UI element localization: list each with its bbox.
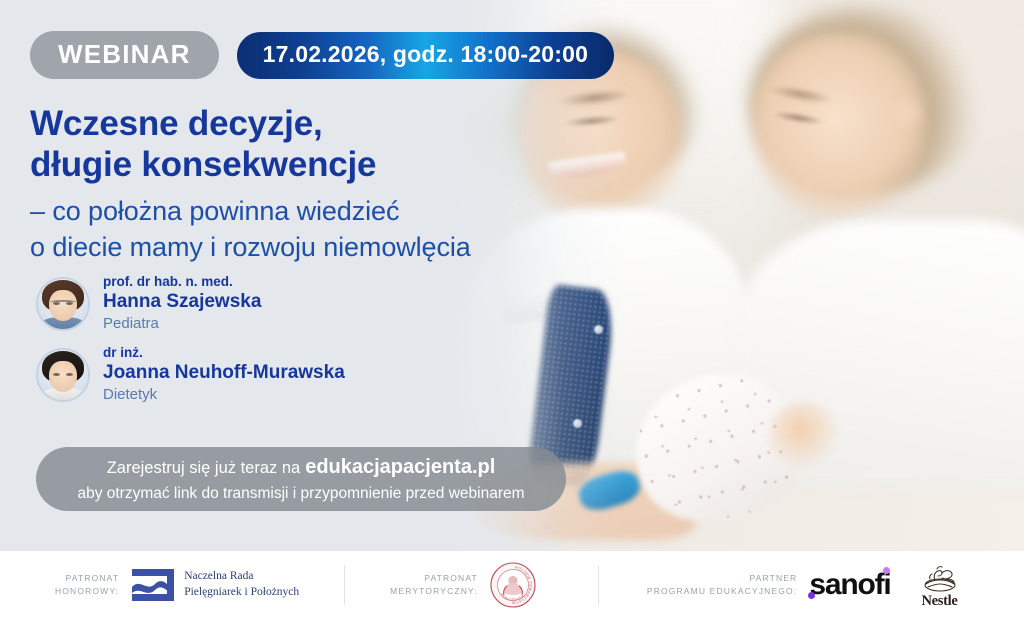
speaker-role: Pediatra — [103, 315, 261, 333]
avatar-hanna-szajewska — [36, 277, 90, 331]
footer-label-patronat-honorowy: PATRONAT HONOROWY: — [55, 572, 119, 598]
nrpip-mark-icon — [131, 568, 175, 602]
nestle-nest-icon — [917, 562, 963, 592]
speakers-list: prof. dr hab. n. med. Hanna Szajewska Pe… — [36, 274, 345, 416]
speaker-name: Joanna Neuhoff-Murawska — [103, 362, 345, 384]
footer-divider-1 — [344, 565, 345, 605]
nestle-logo: Nestle — [917, 562, 963, 609]
cta-line-2: aby otrzymać link do transmisji i przypo… — [77, 484, 524, 505]
polskie-towarzystwo-poloznych-seal: POLSKIE TOWARZYSTWO POŁOŻNYCH — [490, 562, 536, 608]
footer-divider-2 — [598, 565, 599, 605]
partner-footer: PATRONAT HONOROWY: Naczelna Rada Pielęgn… — [0, 551, 1024, 619]
nrpip-logo-text: Naczelna Rada Pielęgniarek i Położnych — [184, 569, 299, 601]
nrpip-logo: Naczelna Rada Pielęgniarek i Położnych — [131, 568, 299, 602]
cta-domain[interactable]: edukacjapacjenta.pl — [305, 456, 495, 478]
avatar-eye-left — [53, 373, 60, 376]
sanofi-text: sanofi — [809, 568, 890, 601]
sanofi-wordmark: sanofi — [809, 570, 890, 600]
sanofi-dot-upper-icon — [883, 567, 890, 574]
nestle-wordmark: Nestle — [921, 594, 957, 609]
sanofi-logo: sanofi — [809, 570, 890, 600]
footer-block-patronat-honorowy: PATRONAT HONOROWY: Naczelna Rada Pielęgn… — [0, 551, 299, 619]
footer-block-partner: PARTNER PROGRAMU EDUKACYJNEGO: sanofi — [647, 551, 963, 619]
title-line-2: długie konsekwencje — [30, 144, 471, 185]
avatar-joanna-neuhoff-murawska — [36, 348, 90, 402]
speaker-name: Hanna Szajewska — [103, 291, 261, 313]
glasses-icon — [50, 300, 76, 306]
footer-label-patronat-merytoryczny: PATRONAT MERYTORYCZNY: — [390, 572, 478, 598]
cta-prefix: Zarejestruj się już teraz na — [107, 459, 301, 477]
page-title: Wczesne decyzje, długie konsekwencje – c… — [30, 103, 471, 265]
subtitle-line-1: – co położna powinna wiedzieć — [30, 194, 471, 230]
webinar-badge: WEBINAR — [30, 31, 219, 79]
date-time-badge: 17.02.2026, godz. 18:00-20:00 — [237, 32, 614, 79]
footer-block-patronat-merytoryczny: PATRONAT MERYTORYCZNY: POLSKIE TOWARZYST… — [390, 551, 536, 619]
title-line-1: Wczesne decyzje, — [30, 103, 471, 144]
subtitle-line-2: o diecie mamy i rozwoju niemowlęcia — [30, 230, 471, 266]
badge-row: WEBINAR 17.02.2026, godz. 18:00-20:00 — [30, 31, 614, 79]
avatar-eye-right — [66, 373, 73, 376]
speaker-title: prof. dr hab. n. med. — [103, 274, 261, 290]
speaker-hanna-szajewska: prof. dr hab. n. med. Hanna Szajewska Pe… — [36, 274, 345, 333]
footer-label-partner: PARTNER PROGRAMU EDUKACYJNEGO: — [647, 572, 797, 598]
avatar-face — [49, 361, 77, 392]
speaker-role: Dietetyk — [103, 386, 345, 404]
cta-line-1: Zarejestruj się już teraz naedukacjapacj… — [107, 454, 496, 481]
speaker-joanna-neuhoff-murawska: dr inż. Joanna Neuhoff-Murawska Dietetyk — [36, 345, 345, 404]
registration-cta[interactable]: Zarejestruj się już teraz naedukacjapacj… — [36, 447, 566, 511]
speaker-title: dr inż. — [103, 345, 345, 361]
webinar-banner: WEBINAR 17.02.2026, godz. 18:00-20:00 Wc… — [0, 0, 1024, 619]
